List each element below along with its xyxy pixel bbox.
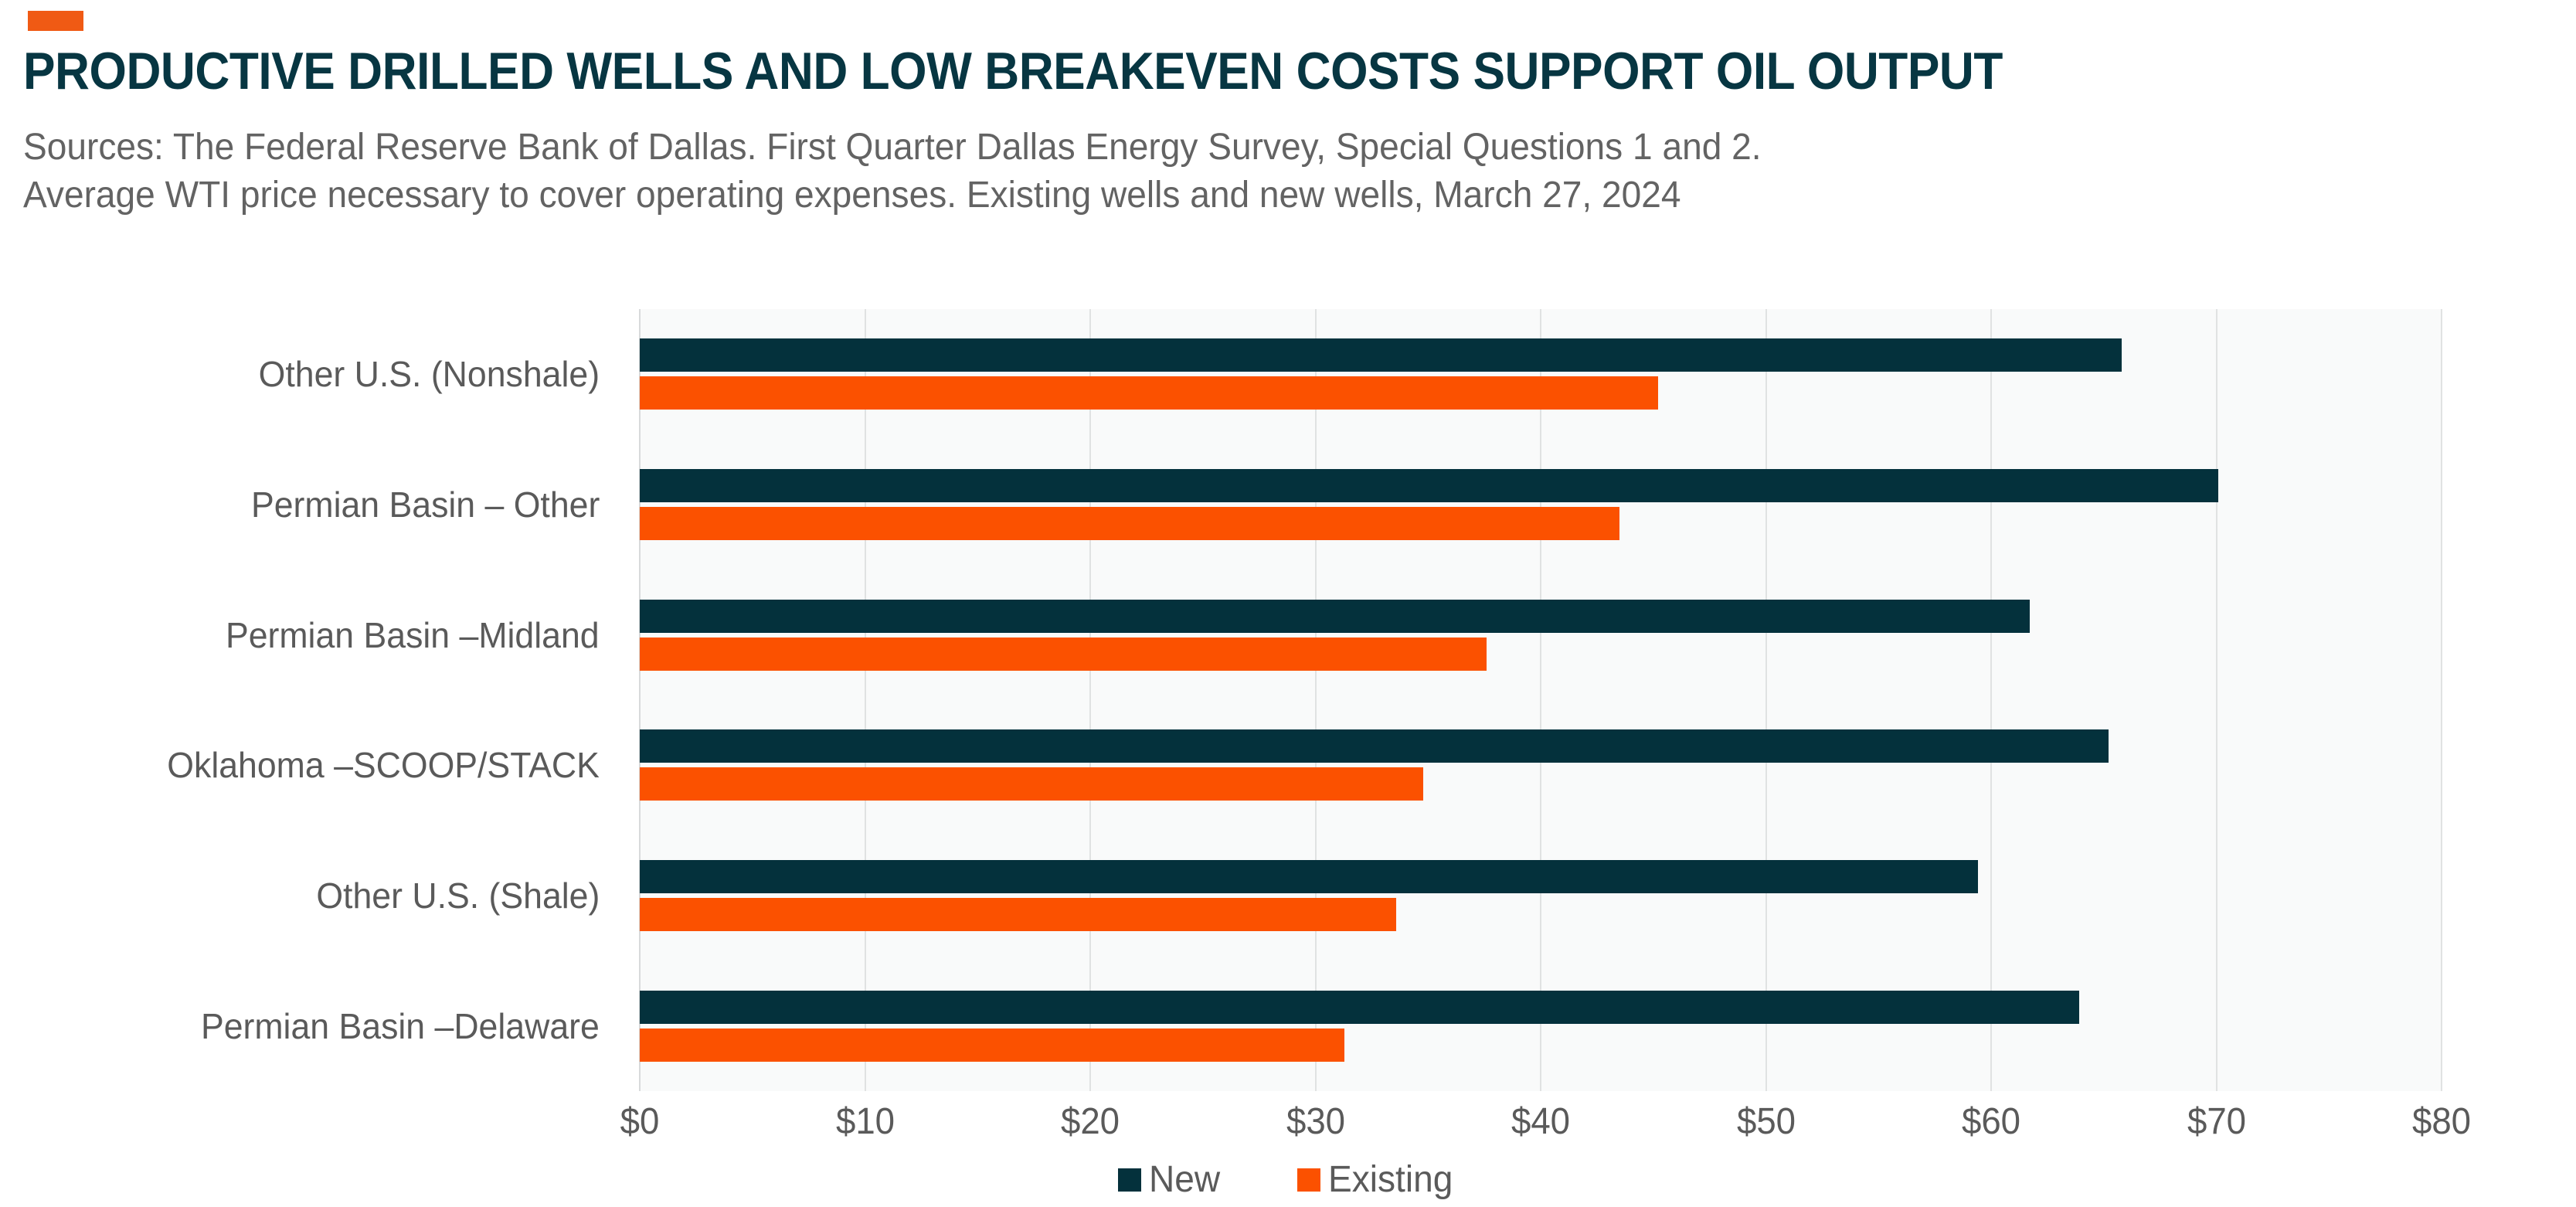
x-tick-label: $70 <box>2187 1099 2245 1145</box>
bar-new[interactable] <box>640 991 2079 1024</box>
accent-bar <box>28 11 83 31</box>
y-axis-label: Oklahoma –SCOOP/STACK <box>167 746 600 784</box>
x-tick-label: $40 <box>1511 1099 1570 1145</box>
bar-chart: Other U.S. (Nonshale)Permian Basin – Oth… <box>0 294 2576 1174</box>
y-axis-label: Permian Basin –Midland <box>226 616 600 654</box>
chart-page: PRODUCTIVE DRILLED WELLS AND LOW BREAKEV… <box>0 0 2576 1174</box>
y-axis-label: Other U.S. (Shale) <box>316 876 600 915</box>
y-axis-label: Other U.S. (Nonshale) <box>259 355 600 393</box>
legend-item-existing[interactable]: Existing <box>1297 1158 1458 1202</box>
legend-swatch-icon <box>1297 1168 1320 1192</box>
x-tick-label: $60 <box>1962 1099 2020 1145</box>
legend-item-new[interactable]: New <box>1118 1158 1223 1202</box>
bar-existing[interactable] <box>640 376 1658 410</box>
y-axis-label: Permian Basin – Other <box>251 485 600 524</box>
bar-existing[interactable] <box>640 507 1619 540</box>
page-subtitle: Sources: The Federal Reserve Bank of Dal… <box>23 124 2442 219</box>
bar-existing[interactable] <box>640 637 1487 671</box>
bar-existing[interactable] <box>640 1028 1344 1062</box>
bar-new[interactable] <box>640 860 1978 893</box>
bar-new[interactable] <box>640 338 2122 372</box>
bar-existing[interactable] <box>640 767 1423 801</box>
legend-label: Existing <box>1328 1158 1453 1202</box>
bar-new[interactable] <box>640 729 2109 763</box>
x-tick-label: $50 <box>1736 1099 1795 1145</box>
chart-legend: NewExisting <box>0 1153 2576 1207</box>
y-axis-labels: Other U.S. (Nonshale)Permian Basin – Oth… <box>0 309 618 1091</box>
legend-swatch-icon <box>1118 1168 1141 1192</box>
bar-new[interactable] <box>640 469 2218 502</box>
x-tick-label: $80 <box>2412 1099 2471 1145</box>
legend-label: New <box>1149 1158 1220 1202</box>
subtitle-line-2: Average WTI price necessary to cover ope… <box>23 172 2442 219</box>
subtitle-line-1: Sources: The Federal Reserve Bank of Dal… <box>23 124 2442 172</box>
bar-existing[interactable] <box>640 898 1396 931</box>
bar-series-container <box>640 309 2442 1091</box>
page-title: PRODUCTIVE DRILLED WELLS AND LOW BREAKEV… <box>23 43 2328 99</box>
x-tick-label: $30 <box>1286 1099 1344 1145</box>
x-axis-tick-labels: $0$10$20$30$40$50$60$70$80 <box>0 1099 2576 1153</box>
y-axis-label: Permian Basin –Delaware <box>201 1007 600 1045</box>
x-tick-label: $0 <box>620 1099 660 1145</box>
x-tick-label: $20 <box>1061 1099 1120 1145</box>
x-tick-label: $10 <box>835 1099 894 1145</box>
bar-new[interactable] <box>640 600 2030 633</box>
